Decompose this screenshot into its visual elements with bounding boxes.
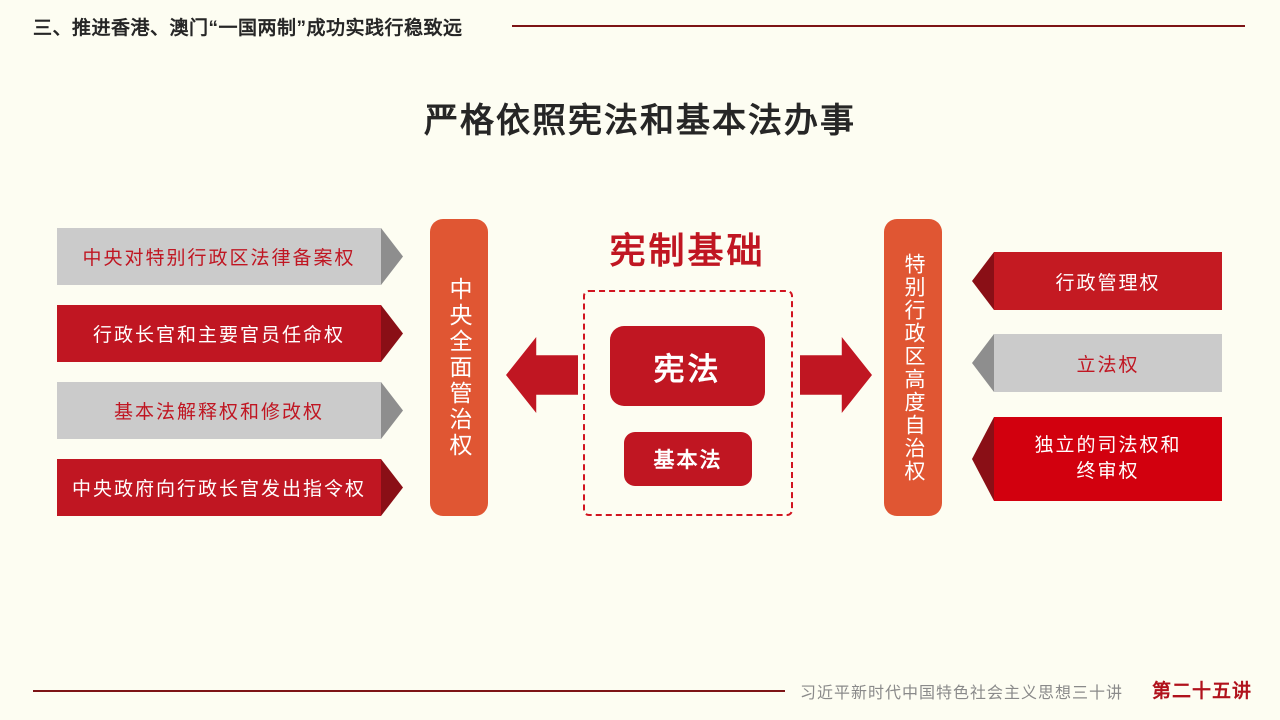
right-item-1-label: 立法权 bbox=[994, 350, 1222, 377]
left-item-3[interactable]: 中央政府向行政长官发出指令权 bbox=[57, 459, 403, 516]
basic-law-box[interactable]: 基本法 bbox=[624, 432, 752, 486]
left-item-1[interactable]: 行政长官和主要官员任命权 bbox=[57, 305, 403, 362]
right-item-2[interactable]: 独立的司法权和 终审权 bbox=[972, 417, 1222, 501]
right-item-1[interactable]: 立法权 bbox=[972, 334, 1222, 392]
footer-lecture-number: 第二十五讲 bbox=[1152, 676, 1252, 703]
left-item-3-arrow-tip bbox=[381, 459, 403, 516]
footer-book-title: 习近平新时代中国特色社会主义思想三十讲 bbox=[800, 679, 1123, 703]
arrow-left-icon bbox=[506, 337, 578, 413]
left-item-2-arrow-tip bbox=[381, 382, 403, 439]
right-item-1-arrow-tip bbox=[972, 334, 994, 392]
right-item-0-label: 行政管理权 bbox=[994, 268, 1222, 295]
footer-divider-line bbox=[33, 690, 785, 692]
slide-root: 三、推进香港、澳门“一国两制”成功实践行稳致远 严格依照宪法和基本法办事 中央对… bbox=[0, 0, 1280, 720]
right-item-2-arrow-tip bbox=[972, 417, 994, 501]
left-item-2[interactable]: 基本法解释权和修改权 bbox=[57, 382, 403, 439]
section-header-title: 三、推进香港、澳门“一国两制”成功实践行稳致远 bbox=[33, 13, 463, 40]
right-item-2-label-line1: 独立的司法权和 bbox=[1034, 433, 1181, 459]
left-item-0-arrow-tip bbox=[381, 228, 403, 285]
sar-autonomy-pill[interactable]: 特别行政区高度自治权 bbox=[884, 219, 942, 516]
left-item-1-label: 行政长官和主要官员任命权 bbox=[57, 320, 381, 347]
right-item-2-label-line2: 终审权 bbox=[1076, 459, 1139, 485]
header-divider-line bbox=[512, 25, 1245, 27]
right-item-0-arrow-tip bbox=[972, 252, 994, 310]
sar-autonomy-pill-label: 特别行政区高度自治权 bbox=[898, 253, 928, 483]
left-item-0[interactable]: 中央对特别行政区法律备案权 bbox=[57, 228, 403, 285]
left-item-3-label: 中央政府向行政长官发出指令权 bbox=[57, 474, 381, 501]
constitutional-basis-heading: 宪制基础 bbox=[585, 222, 790, 274]
page-title: 严格依照宪法和基本法办事 bbox=[0, 93, 1280, 142]
constitution-box[interactable]: 宪法 bbox=[610, 326, 765, 406]
central-jurisdiction-pill-label: 中央全面管治权 bbox=[442, 277, 476, 459]
left-item-0-label: 中央对特别行政区法律备案权 bbox=[57, 243, 381, 270]
central-jurisdiction-pill[interactable]: 中央全面管治权 bbox=[430, 219, 488, 516]
left-item-1-arrow-tip bbox=[381, 305, 403, 362]
right-item-2-label-wrap: 独立的司法权和 终审权 bbox=[994, 417, 1222, 501]
left-item-2-label: 基本法解释权和修改权 bbox=[57, 397, 381, 424]
right-item-0[interactable]: 行政管理权 bbox=[972, 252, 1222, 310]
arrow-right-icon bbox=[800, 337, 872, 413]
